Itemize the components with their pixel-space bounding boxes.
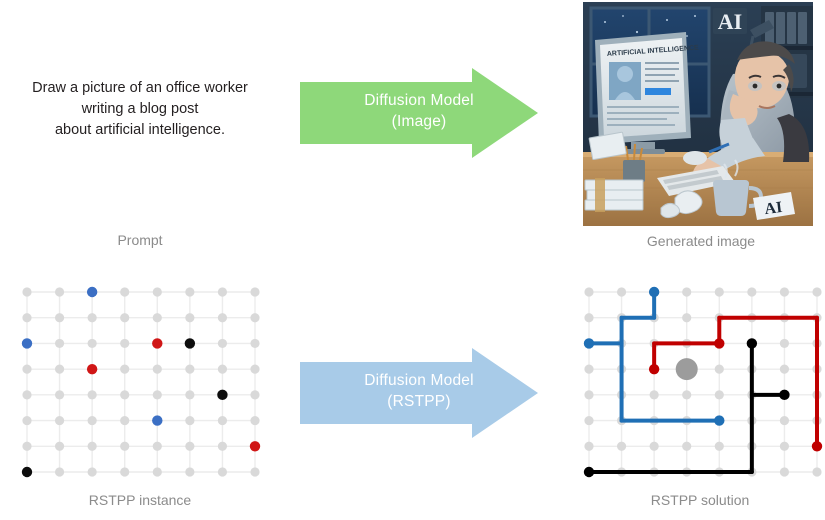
rstpp-instance-grid [10,278,272,486]
solution-terminal-blue [714,415,724,425]
instance-terminal-red [250,441,260,451]
rstpp-solution-grid [572,278,825,486]
solution-terminal-black [779,390,789,400]
instance-terminal-black [185,338,195,348]
prompt-line-1: Draw a picture of an office worker [10,78,270,99]
svg-text:AI: AI [764,199,784,218]
prompt-line-2: writing a blog post [10,99,270,120]
solution-terminal-black [584,467,594,477]
solution-obstacle [676,358,698,380]
caption-generated-image: Generated image [585,232,817,250]
arrow-shape-green [300,64,538,162]
solution-terminal-black [747,338,757,348]
prompt-text: Draw a picture of an office worker writi… [10,78,270,141]
caption-rstpp-solution: RSTPP solution [575,491,825,509]
solution-canvas [572,278,825,486]
solution-terminal-red [812,441,822,451]
instance-terminal-blue [87,287,97,297]
prompt-line-3: about artificial intelligence. [10,120,270,141]
figure-canvas: Draw a picture of an office worker writi… [0,0,825,520]
solution-terminal-blue [584,338,594,348]
solution-terminal-red [714,338,724,348]
instance-terminal-red [152,338,162,348]
svg-text:AI: AI [718,9,742,34]
caption-prompt: Prompt [10,231,270,249]
generated-image-art: AI ARTIFICIAL INTELLIGENCE [583,2,813,226]
arrow-diffusion-image: Diffusion Model (Image) [300,64,538,162]
instance-terminal-black [217,390,227,400]
instance-terminal-blue [152,415,162,425]
arrow-shape-blue [300,344,538,442]
instance-terminal-black [22,467,32,477]
instance-terminal-red [87,364,97,374]
solution-red-tree [654,318,817,447]
arrow-diffusion-rstpp: Diffusion Model (RSTPP) [300,344,538,442]
instance-nodes [22,287,259,476]
generated-image: AI ARTIFICIAL INTELLIGENCE [583,2,813,226]
solution-terminal-blue [649,287,659,297]
caption-rstpp-instance: RSTPP instance [10,491,270,509]
instance-terminal-blue [22,338,32,348]
solution-terminal-red [649,364,659,374]
instance-canvas [10,278,272,486]
